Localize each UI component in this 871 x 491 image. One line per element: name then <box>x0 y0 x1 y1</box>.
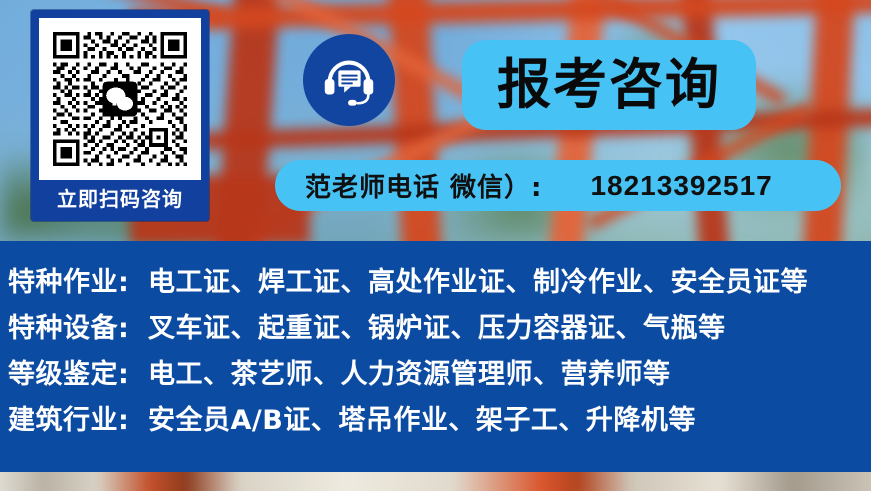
bottom-photo-strip <box>0 472 871 491</box>
certification-list-panel: 特种作业: 电工证、焊工证、高处作业证、制冷作业、安全员证等 特种设备: 叉车证… <box>0 241 871 472</box>
contact-phone-number[interactable]: 18213392517 <box>590 170 772 202</box>
category-items: 叉车证、起重证、锅炉证、压力容器证、气瓶等 <box>148 306 726 345</box>
qr-white-frame <box>39 18 201 180</box>
headset-chat-icon <box>318 49 380 111</box>
bottom-strip-blur <box>0 472 871 491</box>
page-title: 报考咨询 <box>497 58 721 112</box>
promo-poster: 立即扫码咨询 报考咨询 范老师电话 微信）: <box>0 0 871 491</box>
category-label: 建筑行业: <box>8 398 148 437</box>
qr-code-image[interactable] <box>49 28 191 170</box>
title-pill-banner[interactable]: 报考咨询 <box>462 40 756 130</box>
info-row-grade-assessment: 等级鉴定: 电工、茶艺师、人力资源管理师、营养师等 <box>0 352 871 398</box>
qr-code-card[interactable]: 立即扫码咨询 <box>31 10 209 221</box>
info-row-special-operations: 特种作业: 电工证、焊工证、高处作业证、制冷作业、安全员证等 <box>0 260 871 306</box>
category-label: 等级鉴定: <box>8 352 148 391</box>
category-items: 电工证、焊工证、高处作业证、制冷作业、安全员证等 <box>148 260 808 299</box>
contact-label: 范老师电话 微信）: <box>305 167 542 204</box>
qr-caption-label: 立即扫码咨询 <box>31 183 209 212</box>
contact-phone-banner[interactable]: 范老师电话 微信）: 18213392517 <box>275 160 841 211</box>
info-row-construction-industry: 建筑行业: 安全员A/B证、塔吊作业、架子工、升降机等 <box>0 398 871 444</box>
qr-matrix-svg <box>49 28 191 170</box>
category-items: 电工、茶艺师、人力资源管理师、营养师等 <box>148 352 671 391</box>
headset-support-badge[interactable] <box>303 34 395 126</box>
info-row-special-equipment: 特种设备: 叉车证、起重证、锅炉证、压力容器证、气瓶等 <box>0 306 871 352</box>
category-label: 特种设备: <box>8 306 148 345</box>
category-label: 特种作业: <box>8 260 148 299</box>
category-items: 安全员A/B证、塔吊作业、架子工、升降机等 <box>148 398 696 437</box>
